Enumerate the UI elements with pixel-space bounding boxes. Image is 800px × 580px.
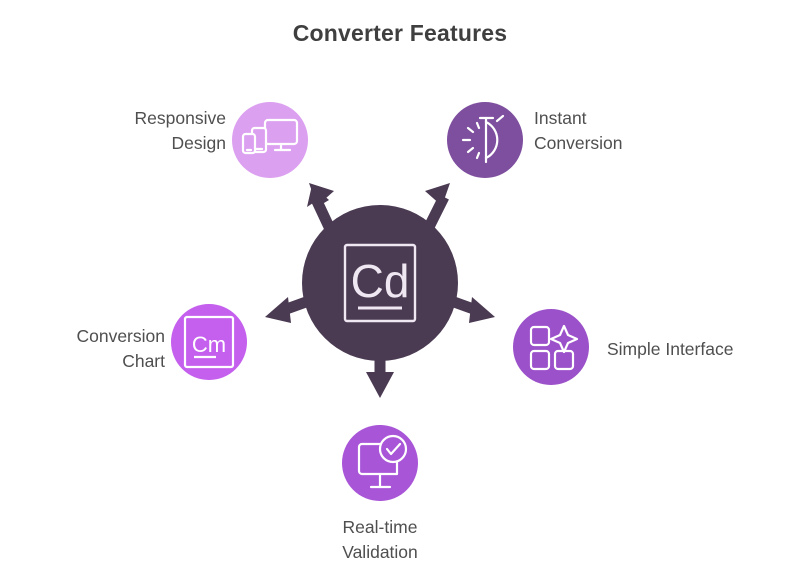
hub-symbol-text: Cd bbox=[351, 255, 410, 307]
diagram-canvas: Converter Features bbox=[0, 0, 800, 580]
chip-symbol-text: Cm bbox=[192, 332, 226, 357]
arrow-left bbox=[265, 297, 306, 323]
node-conversion-chart[interactable]: Cm bbox=[171, 304, 247, 380]
converter-hub[interactable]: Cd bbox=[302, 205, 458, 361]
label-simple-interface: Simple Interface bbox=[607, 337, 800, 362]
node-simple-interface[interactable] bbox=[513, 309, 589, 385]
label-real-time-validation: Real-time Validation bbox=[280, 515, 480, 565]
arrow-right bbox=[454, 297, 495, 323]
arrow-up-right bbox=[425, 183, 450, 229]
node-responsive-design[interactable] bbox=[232, 102, 308, 178]
label-instant-conversion: Instant Conversion bbox=[534, 106, 734, 156]
node-instant-conversion[interactable] bbox=[447, 102, 523, 178]
node-real-time-validation[interactable] bbox=[342, 425, 418, 501]
hub-and-spoke-diagram: Cd bbox=[0, 0, 800, 580]
label-responsive-design: Responsive Design bbox=[66, 106, 226, 156]
label-conversion-chart: Conversion Chart bbox=[10, 324, 165, 374]
